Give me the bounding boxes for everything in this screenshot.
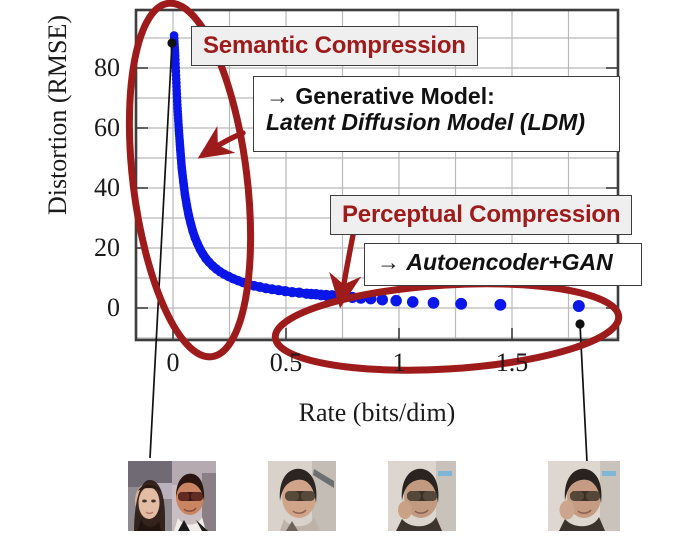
- data-point: [573, 300, 585, 312]
- x-tick-label-1-5: 1.5: [477, 350, 547, 376]
- y-axis-title: Distortion (RMSE): [43, 0, 73, 265]
- generative-model-callout: → Generative Model: Latent Diffusion Mod…: [253, 76, 620, 152]
- data-point: [172, 75, 181, 84]
- rate-distortion-figure: 80 60 40 20 0 0 0.5 1 1.5 Distortion (RM…: [0, 0, 693, 543]
- data-point: [390, 295, 402, 307]
- data-point: [428, 297, 440, 309]
- autoencoder-gan-line: → Autoencoder+GAN: [377, 250, 629, 276]
- thumbnail-art-2: [268, 461, 336, 531]
- semantic-endpoint-marker: [167, 38, 176, 47]
- y-tick-label-0: 0: [60, 295, 120, 321]
- data-point: [494, 299, 506, 311]
- data-point: [316, 291, 325, 300]
- thumbnail-art-4: [548, 461, 620, 531]
- x-tick-label-0: 0: [138, 350, 208, 376]
- perceptual-compression-callout: Perceptual Compression: [330, 195, 632, 235]
- thumbnail-art-1: [128, 461, 216, 531]
- perceptual-endpoint-marker: [575, 319, 584, 328]
- semantic-compression-callout: Semantic Compression: [191, 26, 478, 66]
- semantic-compression-label: Semantic Compression: [203, 32, 466, 60]
- x-axis-title: Rate (bits/dim): [136, 398, 618, 428]
- data-point: [455, 298, 467, 310]
- perceptual-compression-label: Perceptual Compression: [342, 201, 620, 229]
- x-tick-label-1: 1: [364, 350, 434, 376]
- data-point: [407, 296, 419, 308]
- arrow-glyph-2: →: [377, 249, 400, 275]
- generative-model-line-1: → Generative Model:: [266, 84, 607, 110]
- x-tick-label-0-5: 0.5: [251, 350, 321, 376]
- original-pair-thumbnail: [128, 461, 216, 531]
- reconstruction-thumbnail-3: [548, 461, 620, 531]
- reconstruction-thumbnail-1: [268, 461, 336, 531]
- ldm-text: Latent Diffusion Model (LDM): [266, 110, 607, 136]
- thumbnail-art-3: [388, 461, 456, 531]
- arrow-glyph-1: →: [266, 83, 289, 109]
- autoencoder-gan-text: Autoencoder+GAN: [406, 249, 612, 275]
- autoencoder-gan-callout: → Autoencoder+GAN: [364, 243, 642, 286]
- reconstruction-thumbnail-2: [388, 461, 456, 531]
- generative-model-text: Generative Model:: [295, 83, 494, 109]
